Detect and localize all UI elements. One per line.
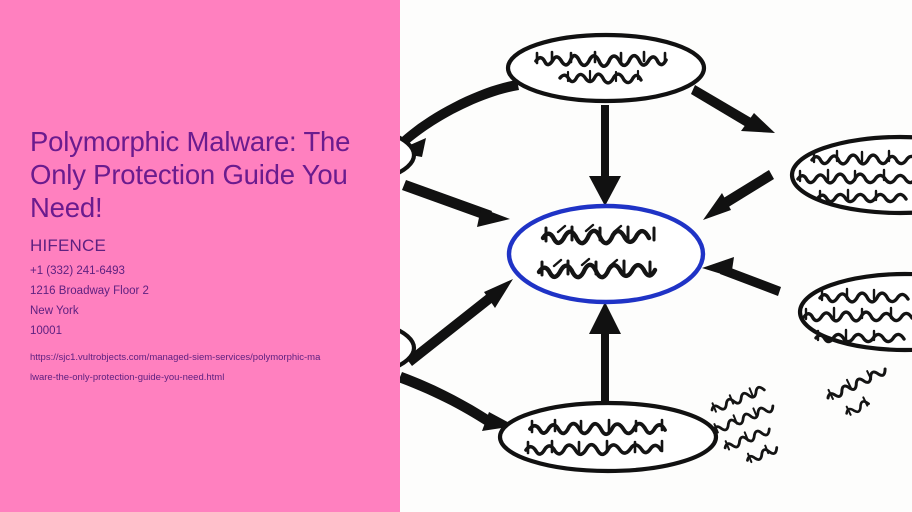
node-bottom[interactable]: [500, 403, 716, 471]
left-info-panel: Polymorphic Malware: The Only Protection…: [0, 0, 400, 512]
brand-name: HIFENCE: [30, 236, 370, 256]
concept-map-panel: [400, 0, 912, 512]
source-url[interactable]: https://sjc1.vultrobjects.com/managed-si…: [30, 348, 370, 387]
arrow-top-to-center: [589, 105, 621, 206]
node-left-lower[interactable]: [400, 316, 414, 380]
page-title: Polymorphic Malware: The Only Protection…: [30, 125, 360, 225]
arrow-bottom-to-center: [589, 302, 621, 404]
source-url-line-2: lware-the-only-protection-guide-you-need…: [30, 372, 224, 383]
node-right-upper[interactable]: [792, 137, 912, 213]
node-top[interactable]: [508, 35, 704, 101]
arrow-top-to-right-upper: [691, 85, 775, 133]
address-street: 1216 Broadway Floor 2: [30, 282, 370, 302]
loose-caption-rotated-a: [704, 382, 790, 471]
phone-number: +1 (332) 241-6493: [30, 262, 370, 282]
arrow-right-upper-to-center: [703, 170, 774, 220]
arrow-left-lower-to-center: [406, 279, 513, 366]
arrow-left-upper-to-center: [402, 180, 510, 227]
address-zip: 10001: [30, 322, 370, 342]
arrow-left-lower-to-bottom: [400, 372, 515, 431]
address-city: New York: [30, 302, 370, 322]
concept-map-diagram: [400, 0, 912, 512]
node-right-lower[interactable]: [800, 274, 912, 350]
loose-caption-rotated-b: [824, 363, 896, 421]
source-url-line-1: https://sjc1.vultrobjects.com/managed-si…: [30, 352, 320, 363]
node-center[interactable]: [509, 206, 703, 302]
arrow-top-to-left-upper: [400, 80, 519, 157]
social-card: Polymorphic Malware: The Only Protection…: [0, 0, 912, 512]
arrow-right-lower-to-center: [702, 257, 781, 296]
